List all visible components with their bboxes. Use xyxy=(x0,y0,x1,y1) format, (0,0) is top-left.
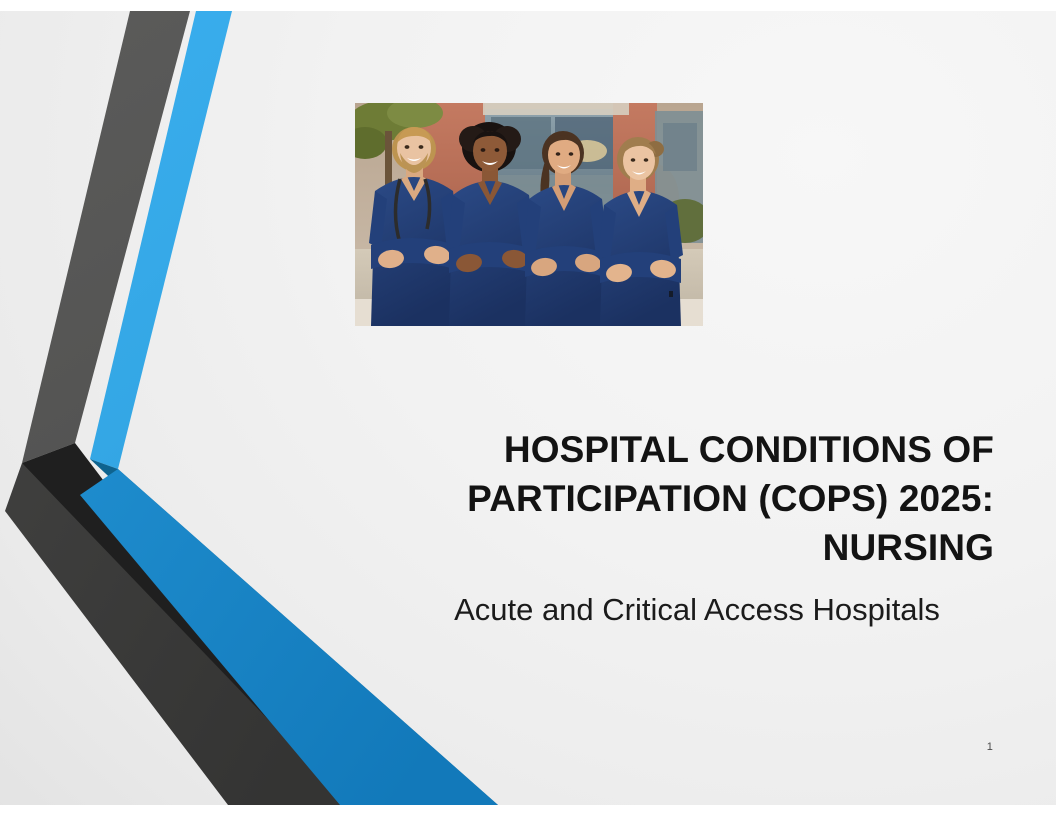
page-subtitle: Acute and Critical Access Hospitals xyxy=(400,589,994,631)
band-lower-gray xyxy=(5,463,350,805)
page-title: HOSPITAL CONDITIONS OF PARTICIPATION (CO… xyxy=(430,425,994,572)
slide-number: 1 xyxy=(960,741,1020,753)
healthcare-team-photo-artwork xyxy=(355,103,703,326)
band-upper-blue xyxy=(90,11,232,469)
title-block: HOSPITAL CONDITIONS OF PARTICIPATION (CO… xyxy=(430,425,994,572)
band-lower-gray-edge xyxy=(22,443,350,805)
slide-canvas: HOSPITAL CONDITIONS OF PARTICIPATION (CO… xyxy=(0,0,1056,816)
subtitle-block: Acute and Critical Access Hospitals xyxy=(400,589,994,631)
band-upper-gray xyxy=(22,11,190,463)
slide-surface: HOSPITAL CONDITIONS OF PARTICIPATION (CO… xyxy=(0,11,1056,805)
healthcare-team-photo xyxy=(355,103,703,326)
